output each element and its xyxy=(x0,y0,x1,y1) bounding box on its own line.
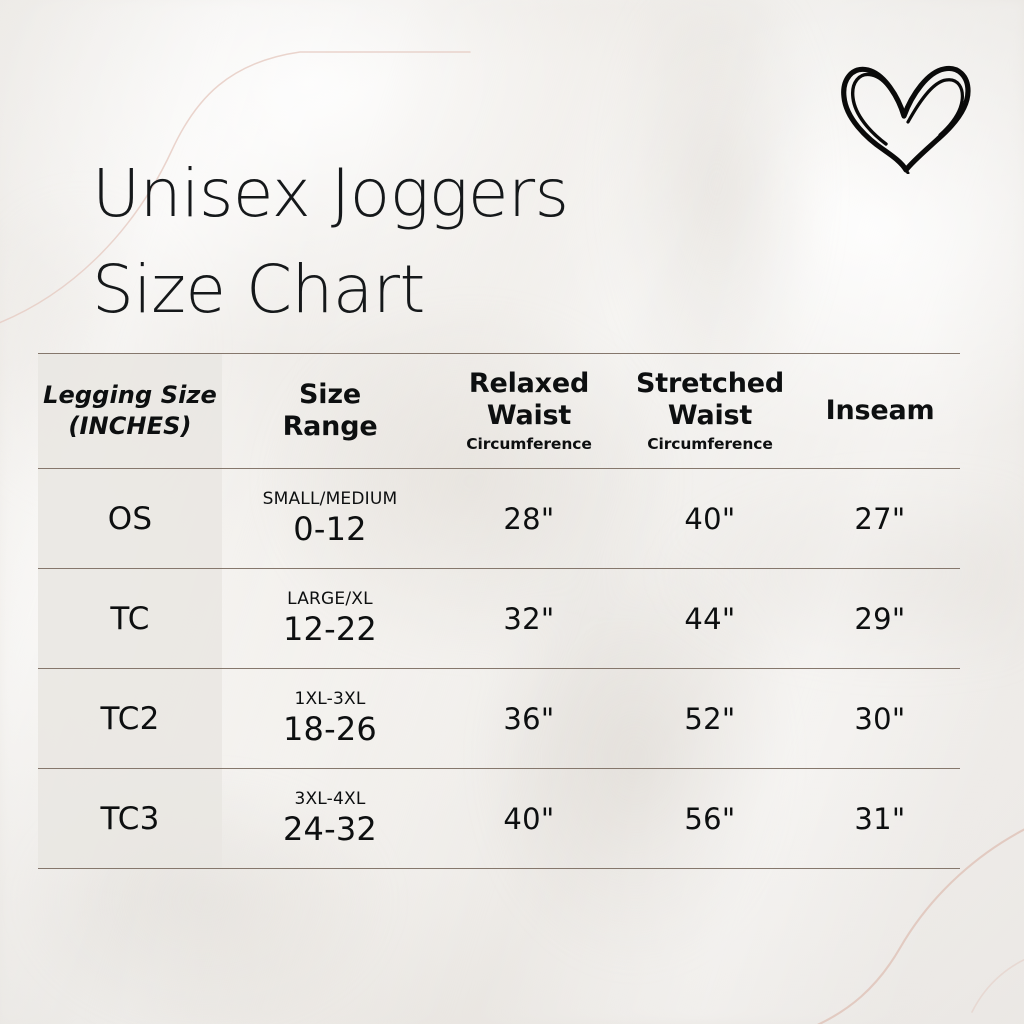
cell-inseam-value: 27" xyxy=(854,502,905,536)
cell-size-range: SMALL/MEDIUM 0-12 xyxy=(222,469,438,569)
cell-legging-size: OS xyxy=(38,469,222,569)
cell-inseam: 31" xyxy=(800,769,960,869)
cell-size-range-alpha: LARGE/XL xyxy=(222,589,438,609)
column-header-inseam-line-1: Inseam xyxy=(826,395,935,426)
cell-inseam-value: 29" xyxy=(854,602,905,636)
cell-legging-size: TC xyxy=(38,569,222,669)
table-row: OS SMALL/MEDIUM 0-12 28" 40" 27" xyxy=(38,469,960,569)
cell-size-range-alpha: 3XL-4XL xyxy=(222,789,438,809)
cell-stretched-waist: 40" xyxy=(620,469,800,569)
cell-size-range-alpha: SMALL/MEDIUM xyxy=(222,489,438,509)
column-header-size-range-line-2: Range xyxy=(283,411,378,442)
cell-inseam-value: 30" xyxy=(854,702,905,736)
cell-size-range-num: 0-12 xyxy=(222,510,438,548)
cell-legging-size: TC3 xyxy=(38,769,222,869)
table-header: Legging Size (INCHES) Size Range Relaxed… xyxy=(38,354,960,469)
cell-stretched-waist-value: 52" xyxy=(684,702,735,736)
cell-legging-size-value: OS xyxy=(108,501,152,537)
cell-size-range-alpha: 1XL-3XL xyxy=(222,689,438,709)
column-header-relaxed-waist: Relaxed Waist Circumference xyxy=(438,354,620,469)
cell-size-range-num: 24-32 xyxy=(222,810,438,848)
size-chart-table: Legging Size (INCHES) Size Range Relaxed… xyxy=(38,353,960,869)
size-chart-canvas: Unisex Joggers Size Chart Legging Size (… xyxy=(0,0,1024,1024)
cell-relaxed-waist: 28" xyxy=(438,469,620,569)
cell-legging-size-value: TC2 xyxy=(100,701,159,737)
cell-relaxed-waist: 32" xyxy=(438,569,620,669)
cell-legging-size-value: TC xyxy=(110,601,149,637)
cell-relaxed-waist-value: 40" xyxy=(503,802,554,836)
column-header-size-range: Size Range xyxy=(222,354,438,469)
cell-inseam: 27" xyxy=(800,469,960,569)
cell-size-range-num: 12-22 xyxy=(222,610,438,648)
cell-stretched-waist-value: 44" xyxy=(684,602,735,636)
cell-inseam: 30" xyxy=(800,669,960,769)
page-title-line-2: Size Chart xyxy=(92,242,812,338)
cell-legging-size: TC2 xyxy=(38,669,222,769)
cell-stretched-waist-value: 40" xyxy=(684,502,735,536)
cell-stretched-waist: 56" xyxy=(620,769,800,869)
table-row: TC3 3XL-4XL 24-32 40" 56" 31" xyxy=(38,769,960,869)
cell-stretched-waist: 52" xyxy=(620,669,800,769)
column-header-relaxed-waist-line-1: Relaxed xyxy=(469,368,589,399)
column-header-inseam: Inseam xyxy=(800,354,960,469)
heart-doodle-icon xyxy=(834,52,986,174)
cell-inseam: 29" xyxy=(800,569,960,669)
cell-size-range: 3XL-4XL 24-32 xyxy=(222,769,438,869)
cell-relaxed-waist-value: 28" xyxy=(503,502,554,536)
table-row: TC2 1XL-3XL 18-26 36" 52" 30" xyxy=(38,669,960,769)
cell-relaxed-waist-value: 36" xyxy=(503,702,554,736)
column-header-legging-size: Legging Size (INCHES) xyxy=(38,354,222,469)
cell-stretched-waist-value: 56" xyxy=(684,802,735,836)
table-row: TC LARGE/XL 12-22 32" 44" 29" xyxy=(38,569,960,669)
table-header-row: Legging Size (INCHES) Size Range Relaxed… xyxy=(38,354,960,469)
cell-size-range: 1XL-3XL 18-26 xyxy=(222,669,438,769)
cell-legging-size-value: TC3 xyxy=(100,801,159,837)
column-header-stretched-waist-line-2: Waist xyxy=(668,400,752,431)
column-header-legging-size-sub: (INCHES) xyxy=(68,412,191,440)
page-title-line-1: Unisex Joggers xyxy=(92,146,812,242)
cell-inseam-value: 31" xyxy=(854,802,905,836)
cell-stretched-waist: 44" xyxy=(620,569,800,669)
column-header-size-range-line-1: Size xyxy=(299,379,361,410)
column-header-stretched-waist-line-1: Stretched xyxy=(636,368,784,399)
cell-relaxed-waist: 40" xyxy=(438,769,620,869)
column-header-relaxed-waist-line-2: Waist xyxy=(487,400,571,431)
table-body: OS SMALL/MEDIUM 0-12 28" 40" 27" TC xyxy=(38,469,960,869)
cell-relaxed-waist: 36" xyxy=(438,669,620,769)
cell-relaxed-waist-value: 32" xyxy=(503,602,554,636)
column-header-stretched-waist: Stretched Waist Circumference xyxy=(620,354,800,469)
column-header-legging-size-main: Legging Size xyxy=(43,381,217,409)
cell-size-range-num: 18-26 xyxy=(222,710,438,748)
column-header-relaxed-waist-sub: Circumference xyxy=(438,434,620,454)
cell-size-range: LARGE/XL 12-22 xyxy=(222,569,438,669)
page-title: Unisex Joggers Size Chart xyxy=(92,146,812,339)
column-header-stretched-waist-sub: Circumference xyxy=(620,434,800,454)
